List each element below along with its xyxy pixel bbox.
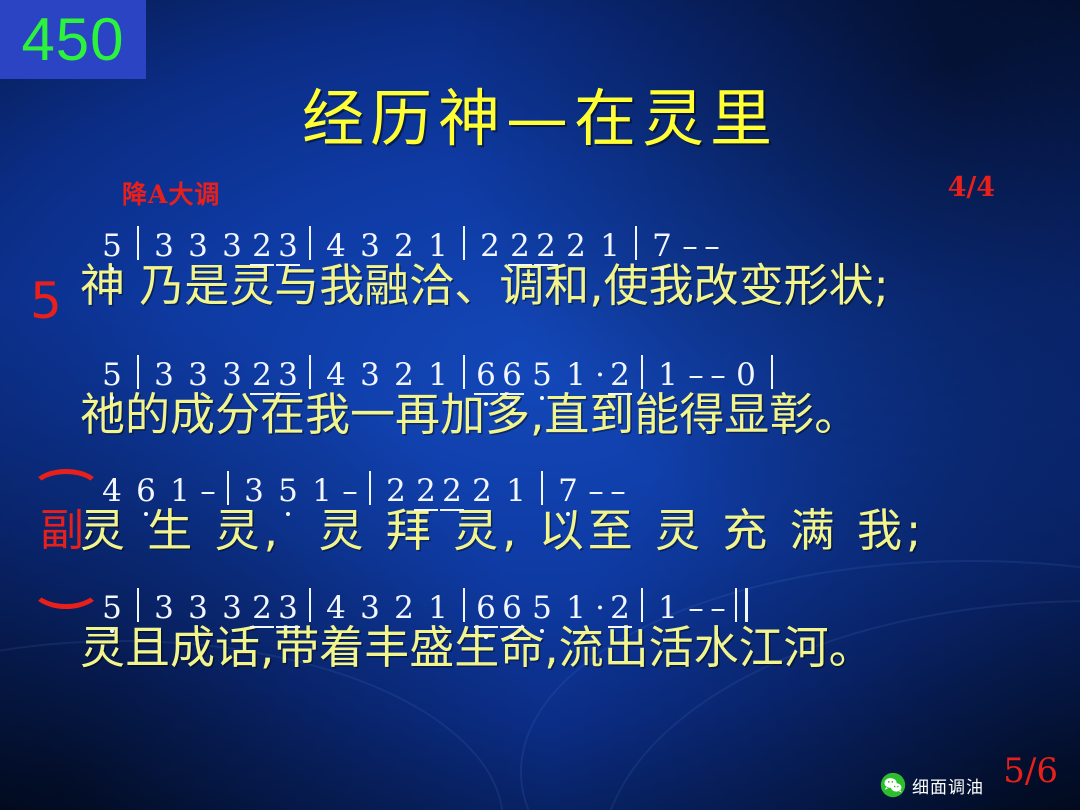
page-title: 经历神—在灵里 (0, 88, 1080, 150)
barline (309, 226, 311, 260)
note: 3 (215, 593, 249, 624)
hymn-number-badge: 450 (0, 0, 146, 79)
hold-dash: – (701, 231, 723, 262)
chorus-marker: 副 (24, 461, 100, 611)
chorus-marker-label: 副 (24, 509, 100, 553)
stanza: 53332343216651·21––灵且成话,带着丰盛生命,流出活水江河。 (0, 578, 1080, 673)
barline (463, 355, 465, 389)
notation-row: 461–351–222217–– (0, 461, 1080, 507)
barline (541, 471, 543, 505)
hold-dash: – (679, 231, 701, 262)
note: 2 (387, 360, 421, 391)
note: 1 (305, 476, 339, 507)
note: 7 (551, 476, 585, 507)
note: 1 (499, 476, 533, 507)
hymn-slide: 450 经历神—在灵里 降A大调 4/4 5333234321222217––神… (0, 0, 1080, 810)
final-barline (735, 588, 748, 622)
note: 5 (525, 593, 559, 624)
notation-row: 53332343216651·21–– (0, 578, 1080, 624)
hold-dash: – (685, 360, 707, 391)
barline (137, 226, 139, 260)
barline (309, 588, 311, 622)
wechat-account-name: 细面调油 (912, 773, 984, 798)
notation-row: 53332343216651·21––0 (0, 345, 1080, 391)
note: 1 (651, 360, 685, 391)
wechat-icon (880, 772, 906, 798)
note: 3 (147, 231, 181, 262)
note: 5 (271, 476, 305, 507)
note: 2 (533, 231, 559, 262)
note: 7 (645, 231, 679, 262)
barline (137, 355, 139, 389)
hold-dash: – (707, 360, 729, 391)
note: 5 (95, 593, 129, 624)
barline (771, 355, 773, 389)
hold-dash: – (685, 593, 707, 624)
note: 4 (319, 360, 353, 391)
notation-row: 5333234321222217–– (0, 216, 1080, 262)
note: 1 (559, 360, 593, 391)
barline (227, 471, 229, 505)
note: 3 (181, 360, 215, 391)
barline (309, 355, 311, 389)
note: 3 (147, 593, 181, 624)
note: 2 (439, 476, 465, 507)
note: 6 (499, 360, 525, 391)
note: 1 (421, 360, 455, 391)
note: 1 (559, 593, 593, 624)
note: 1 (163, 476, 197, 507)
barline (641, 355, 643, 389)
note: 2 (559, 231, 593, 262)
note: 2 (249, 231, 275, 262)
stanza-number: 5 (30, 276, 62, 326)
barline (635, 226, 637, 260)
barline (369, 471, 371, 505)
note: 0 (729, 360, 763, 391)
note: 3 (275, 360, 301, 391)
note: 6 (473, 593, 499, 624)
note: 3 (237, 476, 271, 507)
note: 5 (95, 231, 129, 262)
dotted-rhythm-dot: · (593, 593, 607, 624)
note: 3 (353, 593, 387, 624)
note: 2 (507, 231, 533, 262)
hold-dash: – (339, 476, 361, 507)
note: 2 (249, 360, 275, 391)
note: 6 (129, 476, 163, 507)
note: 2 (473, 231, 507, 262)
barline (137, 588, 139, 622)
chorus-paren-bottom-icon (30, 565, 102, 609)
note: 3 (181, 231, 215, 262)
music-score: 5333234321222217––神 乃是灵与我融洽、调和,使我改变形状;55… (0, 216, 1080, 672)
note: 3 (275, 231, 301, 262)
page-indicator: 5/6 (1003, 754, 1058, 788)
note: 3 (275, 593, 301, 624)
barline (641, 588, 643, 622)
note: 3 (181, 593, 215, 624)
stanza: 461–351–222217––灵 生 灵, 灵 拜 灵, 以至 灵 充 满 我… (0, 461, 1080, 556)
key-signature: 降A大调 (122, 175, 220, 211)
note: 3 (215, 360, 249, 391)
note: 5 (95, 360, 129, 391)
note: 2 (249, 593, 275, 624)
note: 1 (421, 593, 455, 624)
hold-dash: – (607, 476, 629, 507)
stanza: 53332343216651·21––0祂的成分在我一再加多,直到能得显彰。 (0, 345, 1080, 440)
note: 3 (215, 231, 249, 262)
note: 6 (499, 593, 525, 624)
hymn-number: 450 (21, 10, 124, 70)
note: 3 (353, 360, 387, 391)
note: 2 (413, 476, 439, 507)
note: 1 (593, 231, 627, 262)
note: 1 (421, 231, 455, 262)
wechat-credit: 细面调油 (880, 772, 984, 798)
lyric-line: 灵 生 灵, 灵 拜 灵, 以至 灵 充 满 我; (0, 507, 1080, 556)
time-signature: 4/4 (948, 172, 995, 203)
hold-dash: – (197, 476, 219, 507)
hold-dash: – (585, 476, 607, 507)
note: 4 (319, 231, 353, 262)
note: 6 (473, 360, 499, 391)
note: 3 (353, 231, 387, 262)
note: 2 (387, 231, 421, 262)
barline (463, 588, 465, 622)
barline (463, 226, 465, 260)
note: 2 (465, 476, 499, 507)
stanza: 5333234321222217––神 乃是灵与我融洽、调和,使我改变形状;5 (0, 216, 1080, 311)
note: 2 (379, 476, 413, 507)
note: 2 (387, 593, 421, 624)
dotted-rhythm-dot: · (593, 360, 607, 391)
note: 5 (525, 360, 559, 391)
note: 1 (651, 593, 685, 624)
note: 2 (607, 593, 633, 624)
note: 2 (607, 360, 633, 391)
lyric-line: 神 乃是灵与我融洽、调和,使我改变形状; (0, 262, 1080, 311)
note: 4 (319, 593, 353, 624)
note: 3 (147, 360, 181, 391)
hold-dash: – (707, 593, 729, 624)
